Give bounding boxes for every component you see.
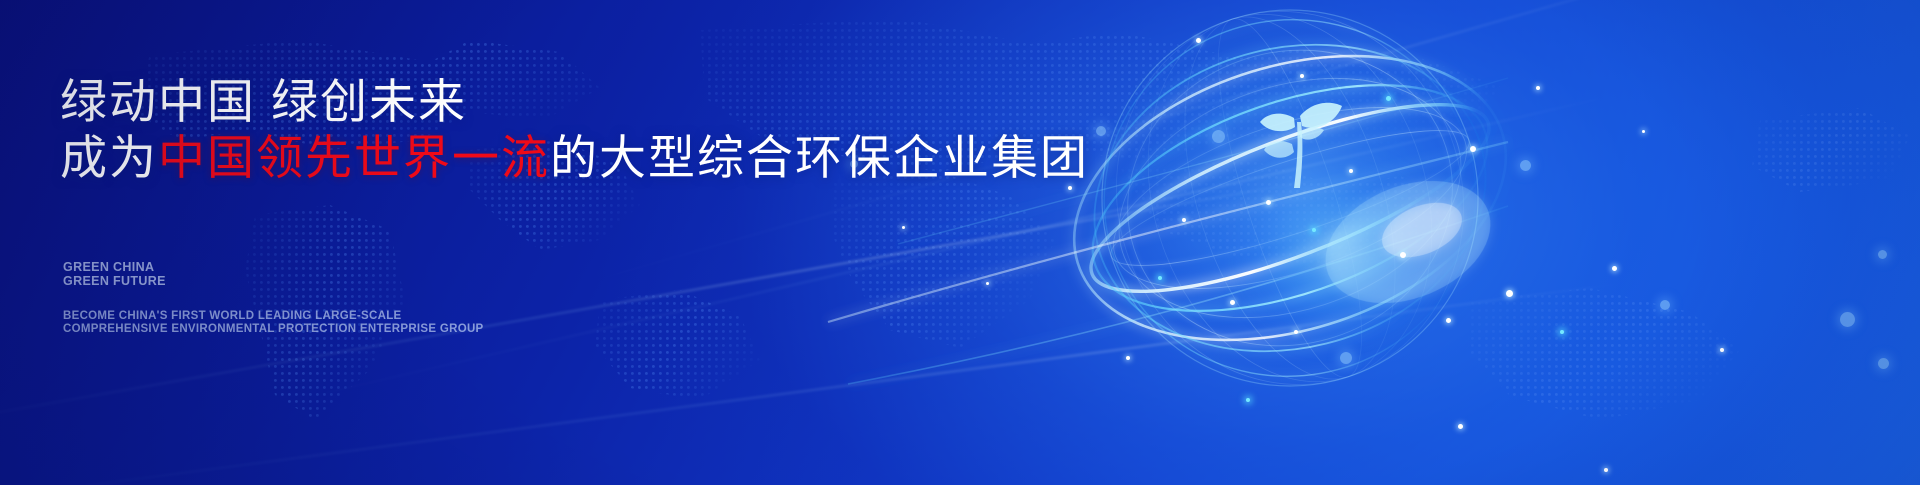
headline-prefix: 成为 [60,131,158,184]
banner-copy: 绿动中国 绿创未来 成为中国领先世界一流的大型综合环保企业集团 GREEN CH… [60,0,1060,485]
tagline-line-1: GREEN CHINA [63,260,166,274]
description-english: BECOME CHINA'S FIRST WORLD LEADING LARGE… [63,310,484,336]
headline-line-2: 成为中国领先世界一流的大型综合环保企业集团 [60,134,1089,181]
sprout-seedling-icon [1254,92,1346,192]
headline-line-1: 绿动中国 绿创未来 [60,78,467,125]
headline-suffix: 的大型综合环保企业集团 [550,131,1089,184]
hero-banner: 绿动中国 绿创未来 成为中国领先世界一流的大型综合环保企业集团 GREEN CH… [0,0,1920,485]
headline-highlight: 中国领先世界一流 [158,131,550,184]
tagline-line-2: GREEN FUTURE [63,274,166,288]
wireframe-globe [1078,0,1508,422]
tagline-english: GREEN CHINA GREEN FUTURE [63,260,166,288]
description-line-1: BECOME CHINA'S FIRST WORLD LEADING LARGE… [63,310,484,323]
description-line-2: COMPREHENSIVE ENVIRONMENTAL PROTECTION E… [63,323,484,336]
globe-core-glow [1198,127,1478,377]
